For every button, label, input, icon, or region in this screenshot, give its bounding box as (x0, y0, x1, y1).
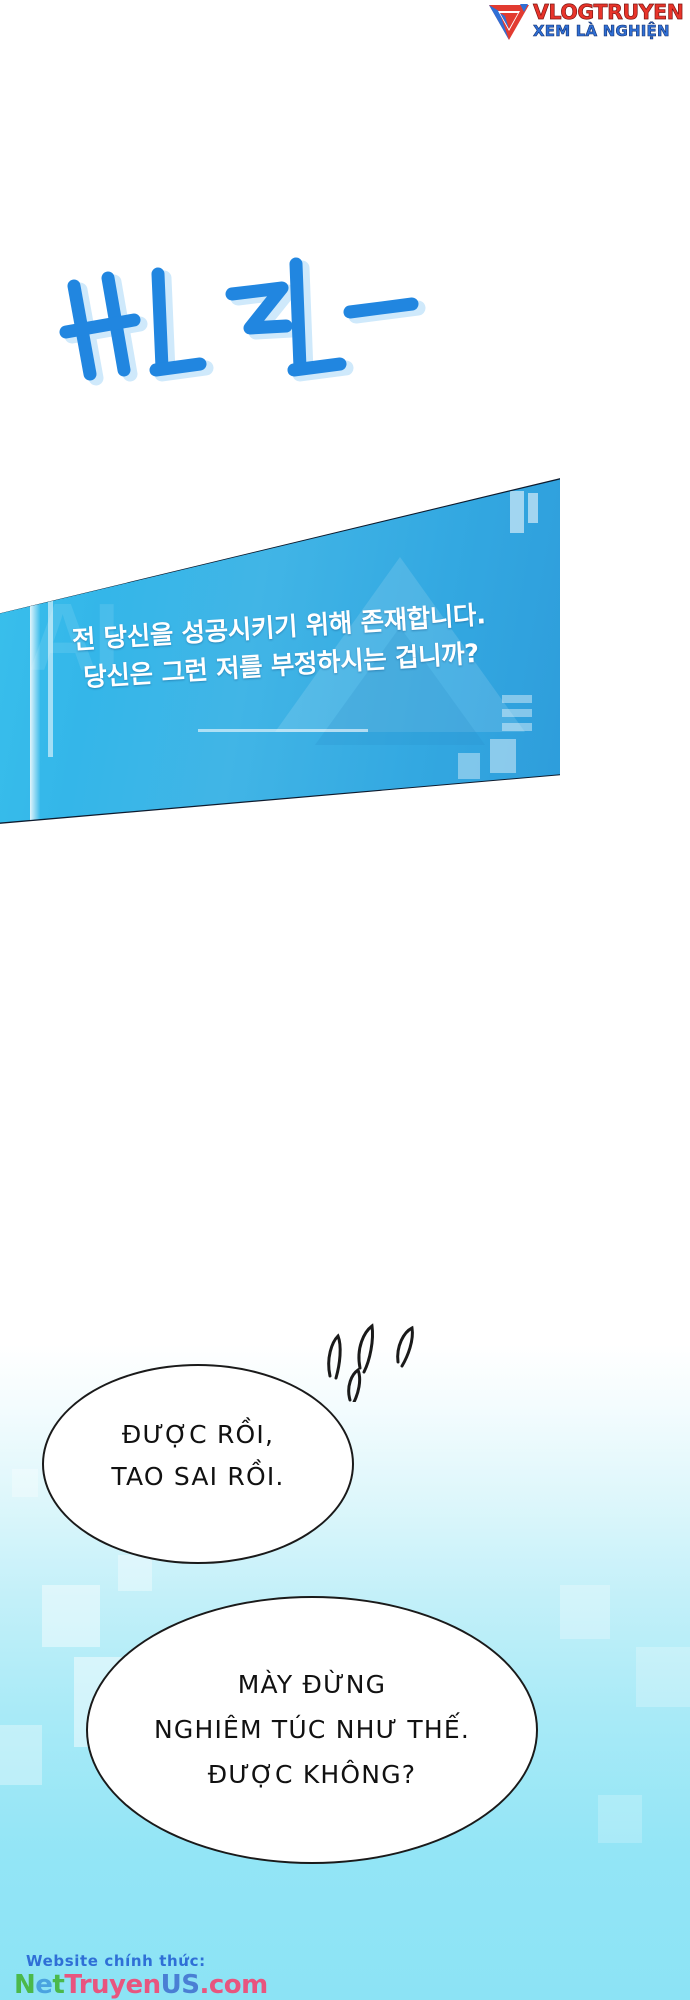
footer-site-part: N (14, 1970, 35, 2000)
hologram-side-bar (502, 695, 532, 703)
footer-site-part: t (52, 1970, 64, 2000)
footer-site-part: Truyen (64, 1970, 160, 2000)
bubble-1-line-2: TAO SAI RỒI. (44, 1456, 352, 1498)
bokeh-square (0, 1725, 42, 1785)
speech-bubble-1-text: ĐƯỢC RỒI, TAO SAI RỒI. (44, 1414, 352, 1498)
hologram-underline (198, 729, 368, 732)
webtoon-page: VLOGTRUYEN XEM LÀ NGHIỆN (0, 0, 690, 2000)
logo-wordmark: VLOGTRUYEN XEM LÀ NGHIỆN (533, 2, 684, 39)
footer-site-name[interactable]: NetTruyenUS.com (14, 1972, 268, 1998)
vlogtruyen-logo[interactable]: VLOGTRUYEN XEM LÀ NGHIỆN (487, 2, 687, 46)
hologram-side-bar (502, 709, 532, 717)
emphasis-marks-icon (316, 1312, 436, 1402)
speech-bubble-2: MÀY ĐỪNG NGHIÊM TÚC NHƯ THẾ. ĐƯỢC KHÔNG? (86, 1596, 538, 1864)
hologram-screen-panel: AI 전 당신을 성공시키기 위해 존재합니다. 당신은 그런 저를 부정하시는… (0, 476, 560, 826)
footer-label: Website chính thức: (14, 1954, 268, 1969)
logo-title: VLOGTRUYEN (533, 2, 684, 23)
hologram-side-bar (528, 493, 538, 523)
sound-effect: 띠링~ (56, 252, 436, 402)
bokeh-square (598, 1795, 642, 1843)
footer-site-part: e (35, 1970, 52, 2000)
speech-bubble-2-text: MÀY ĐỪNG NGHIÊM TÚC NHƯ THẾ. ĐƯỢC KHÔNG? (88, 1662, 536, 1797)
hologram-side-bar (510, 491, 524, 533)
hologram-side-bar (490, 739, 516, 773)
bubble-1-line-1: ĐƯỢC RỒI, (44, 1414, 352, 1456)
bokeh-square (118, 1555, 152, 1591)
bubble-2-line-1: MÀY ĐỪNG (88, 1662, 536, 1707)
triangle-v-mark-icon (487, 2, 531, 42)
logo-tagline: XEM LÀ NGHIỆN (533, 24, 670, 39)
bubble-2-line-2: NGHIÊM TÚC NHƯ THẾ. (88, 1707, 536, 1752)
bubble-2-line-3: ĐƯỢC KHÔNG? (88, 1752, 536, 1797)
site-watermark-footer[interactable]: Website chính thức: NetTruyenUS.com (14, 1954, 268, 1998)
hologram-side-bar (458, 753, 480, 779)
footer-site-part: .com (200, 1970, 268, 2000)
bokeh-square (12, 1469, 38, 1497)
bokeh-square (42, 1585, 100, 1647)
header-watermark-bar: VLOGTRUYEN XEM LÀ NGHIỆN (0, 0, 690, 52)
hologram-surface: AI 전 당신을 성공시키기 위해 존재합니다. 당신은 그런 저를 부정하시는… (0, 477, 560, 824)
speech-bubble-1: ĐƯỢC RỒI, TAO SAI RỒI. (42, 1364, 354, 1564)
footer-site-part: US (161, 1970, 200, 2000)
sound-effect-glyphs (56, 252, 436, 402)
hologram-side-bar (502, 723, 532, 731)
bokeh-square (560, 1585, 610, 1639)
bokeh-square (636, 1647, 690, 1707)
